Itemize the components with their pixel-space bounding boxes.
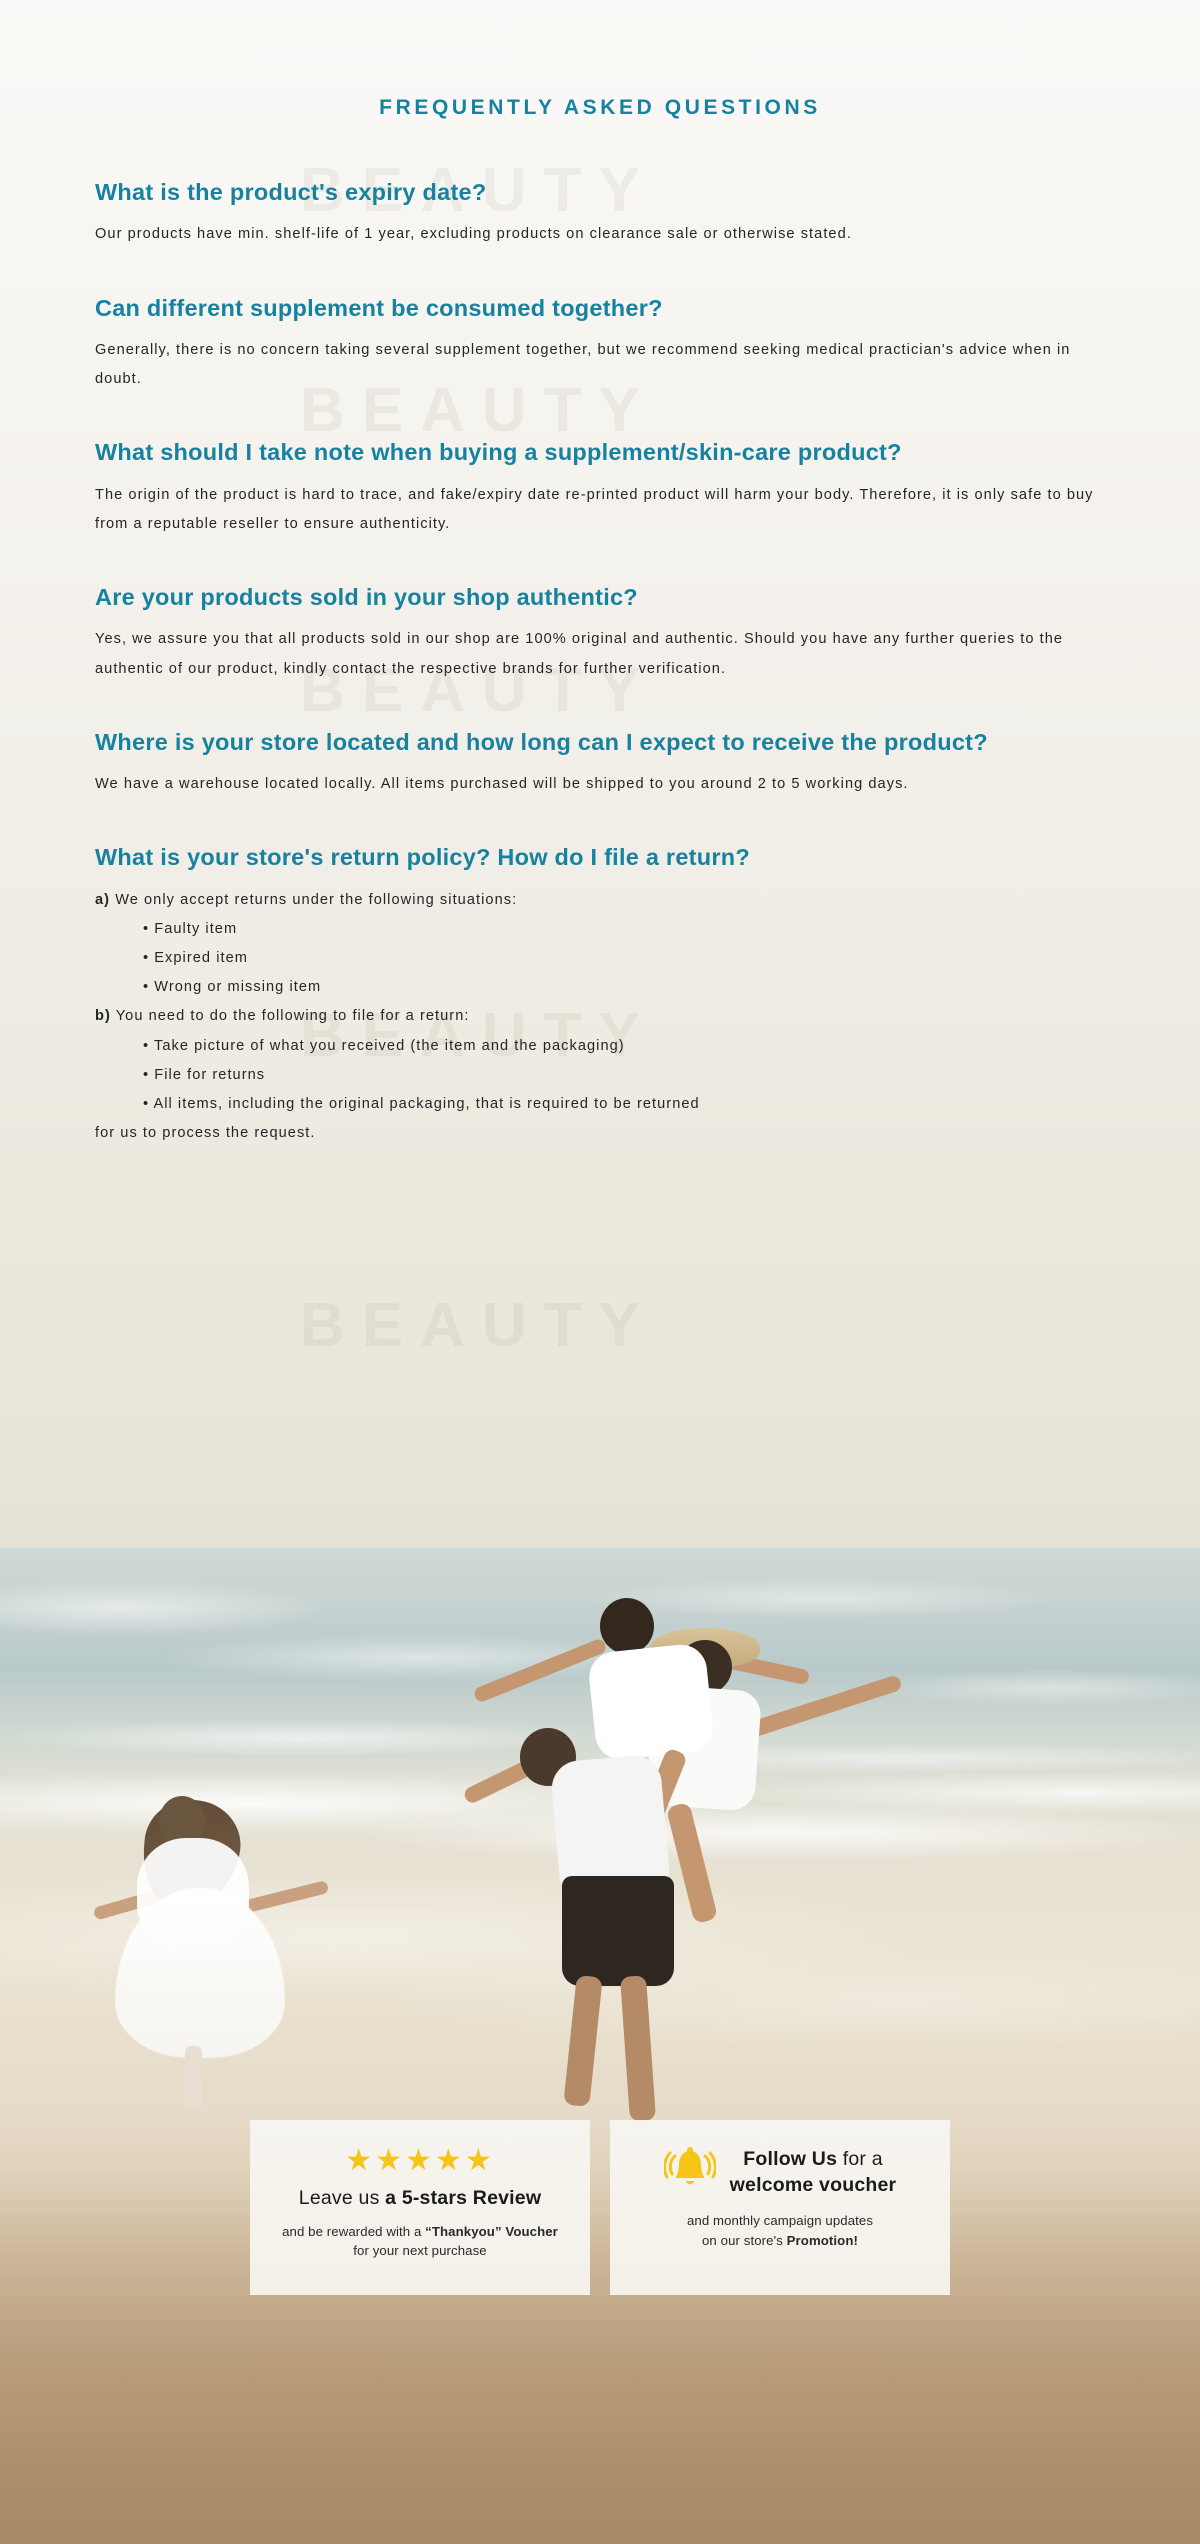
faq-item: Are your products sold in your shop auth… xyxy=(95,581,1105,684)
review-subtext: and be rewarded with a “Thankyou” Vouche… xyxy=(268,2222,572,2261)
man-torso xyxy=(550,1753,671,1892)
follow-headline: Follow Us for a welcome voucher xyxy=(730,2147,897,2198)
faq-item: What is the product's expiry date? Our p… xyxy=(95,176,1105,250)
review-sub-post: for your next purchase xyxy=(353,2243,486,2258)
man-shorts xyxy=(562,1876,674,1986)
list-item: • Take picture of what you received (the… xyxy=(95,1032,1105,1061)
faq-question: Are your products sold in your shop auth… xyxy=(95,581,1105,614)
list-item: • Expired item xyxy=(95,944,1105,973)
list-text-b: You need to do the following to file for… xyxy=(116,1008,470,1024)
follow-card[interactable]: Follow Us for a welcome voucher and mont… xyxy=(610,2120,950,2295)
list-item: • Faulty item xyxy=(95,915,1105,944)
faq-item: Where is your store located and how long… xyxy=(95,726,1105,800)
list-item: • All items, including the original pack… xyxy=(95,1090,1105,1119)
returns-tail: for us to process the request. xyxy=(95,1119,1105,1148)
girl-figure xyxy=(95,1778,315,2108)
list-marker-a: a) xyxy=(95,892,110,908)
list-marker-b: b) xyxy=(95,1008,111,1024)
follow-headline-plain-1: for a xyxy=(837,2148,883,2170)
review-sub-pre: and be rewarded with a xyxy=(282,2224,425,2239)
page-title: FREQUENTLY ASKED QUESTIONS xyxy=(95,0,1105,120)
returns-group-a: a) We only accept returns under the foll… xyxy=(95,886,1105,915)
follow-sub-line-1: and monthly campaign updates xyxy=(687,2213,873,2228)
follow-sub-bold-2: Promotion! xyxy=(787,2233,858,2248)
follow-subtext: and monthly campaign updates on our stor… xyxy=(628,2211,932,2250)
faq-item: What should I take note when buying a su… xyxy=(95,436,1105,539)
follow-headline-row: Follow Us for a welcome voucher xyxy=(628,2146,932,2199)
review-headline-plain: Leave us xyxy=(299,2187,385,2209)
review-card[interactable]: ★★★★★ Leave us a 5-stars Review and be r… xyxy=(250,2120,590,2295)
faq-question: What is your store's return policy? How … xyxy=(95,841,1105,874)
follow-headline-bold-2: welcome voucher xyxy=(730,2174,897,2196)
man-leg-left xyxy=(563,1975,602,2107)
faq-answer: Yes, we assure you that all products sol… xyxy=(95,625,1105,683)
boy-head xyxy=(600,1598,654,1654)
faq-item-returns: What is your store's return policy? How … xyxy=(95,841,1105,1148)
faq-answer: The origin of the product is hard to tra… xyxy=(95,481,1105,539)
faq-answer: Our products have min. shelf-life of 1 y… xyxy=(95,220,1105,249)
review-headline: Leave us a 5-stars Review xyxy=(268,2186,572,2212)
star-rating-icon: ★★★★★ xyxy=(268,2146,572,2176)
list-text-a: We only accept returns under the followi… xyxy=(115,892,517,908)
promo-cards: ★★★★★ Leave us a 5-stars Review and be r… xyxy=(0,2120,1200,2295)
faq-question: What should I take note when buying a su… xyxy=(95,436,1105,469)
faq-question: Where is your store located and how long… xyxy=(95,726,1105,759)
faq-answer: We have a warehouse located locally. All… xyxy=(95,770,1105,799)
faq-answer: Generally, there is no concern taking se… xyxy=(95,336,1105,394)
faq-section: FREQUENTLY ASKED QUESTIONS What is the p… xyxy=(0,0,1200,1148)
faq-item: Can different supplement be consumed tog… xyxy=(95,292,1105,395)
faq-question: What is the product's expiry date? xyxy=(95,176,1105,209)
faq-question: Can different supplement be consumed tog… xyxy=(95,292,1105,325)
follow-sub-pre-2: on our store's xyxy=(702,2233,787,2248)
boy-torso xyxy=(587,1642,716,1762)
review-headline-bold: a 5-stars Review xyxy=(385,2187,541,2209)
family-group-figure xyxy=(500,1588,930,2108)
girl-leg xyxy=(185,2046,202,2108)
returns-group-b: b) You need to do the following to file … xyxy=(95,1002,1105,1031)
bell-icon xyxy=(664,2146,716,2199)
list-item: • Wrong or missing item xyxy=(95,973,1105,1002)
beach-photo: BEAUTY xyxy=(0,1548,1200,2544)
faq-page: BEAUTY BEAUTY BEAUTY BEAUTY BEAUTY FREQU… xyxy=(0,0,1200,2544)
follow-headline-bold-1: Follow Us xyxy=(743,2148,837,2170)
review-sub-bold: “Thankyou” Voucher xyxy=(425,2224,558,2239)
list-item: • File for returns xyxy=(95,1061,1105,1090)
watermark-beauty: BEAUTY xyxy=(300,1290,657,1361)
man-leg-right xyxy=(620,1975,656,2121)
